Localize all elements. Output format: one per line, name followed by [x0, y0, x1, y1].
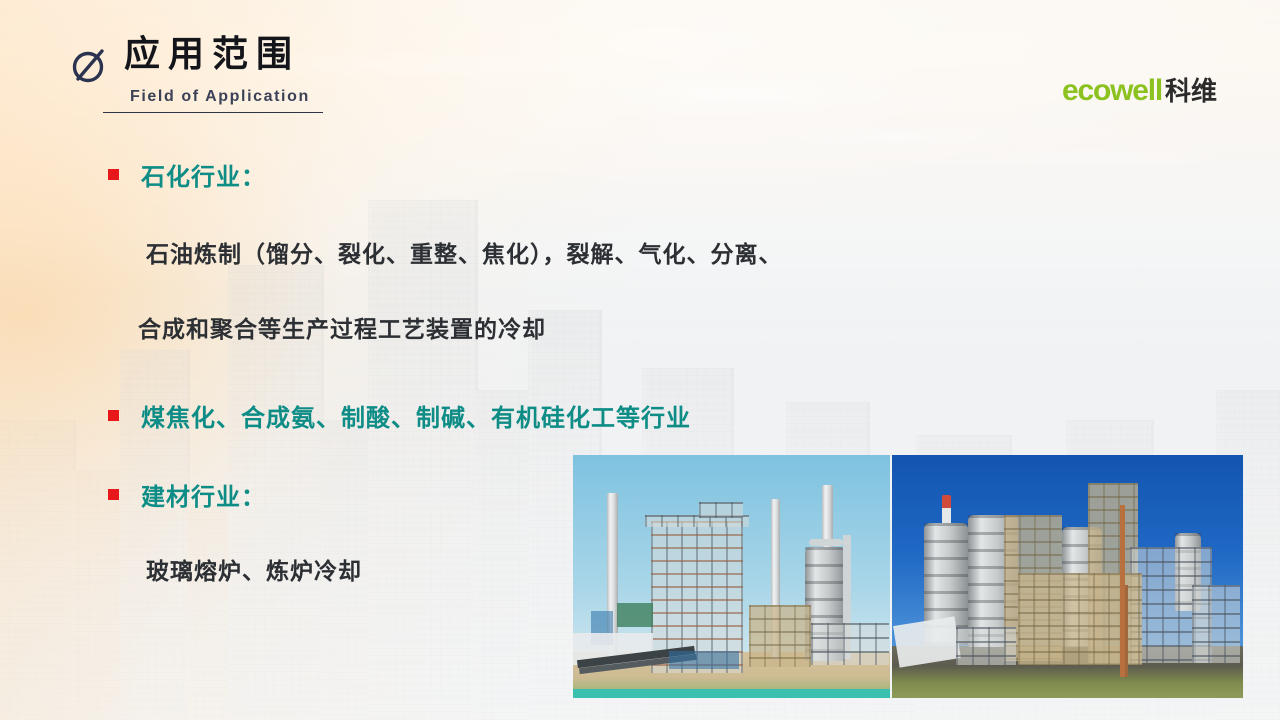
- list-item-label: 建材行业：: [141, 477, 266, 512]
- list-item: 石油炼制（馏分、裂化、重整、焦化），裂解、气化、分离、: [146, 235, 783, 269]
- list-item: 石化行业：: [108, 157, 266, 192]
- list-item-label: 合成和聚合等生产过程工艺装置的冷却: [138, 310, 546, 344]
- list-item-label: 玻璃熔炉、炼炉冷却: [146, 552, 362, 586]
- list-item: 合成和聚合等生产过程工艺装置的冷却: [138, 310, 546, 344]
- list-item-label: 煤焦化、合成氨、制酸、制碱、有机硅化工等行业: [141, 398, 691, 433]
- chemical-plant-photo: [892, 455, 1243, 698]
- list-item: 建材行业：: [108, 477, 266, 512]
- slide-canvas: 应用范围 Field of Application ecowell 科维 石化行…: [0, 0, 1280, 720]
- bullet-square-icon: [108, 410, 119, 421]
- list-item-label: 石油炼制（馏分、裂化、重整、焦化），裂解、气化、分离、: [146, 235, 783, 269]
- list-item-label: 石化行业：: [141, 157, 266, 192]
- petrochemical-refinery-photo: [573, 455, 890, 698]
- bullet-square-icon: [108, 489, 119, 500]
- list-item: 煤焦化、合成氨、制酸、制碱、有机硅化工等行业: [108, 398, 691, 433]
- bullet-square-icon: [108, 169, 119, 180]
- list-item: 玻璃熔炉、炼炉冷却: [146, 552, 362, 586]
